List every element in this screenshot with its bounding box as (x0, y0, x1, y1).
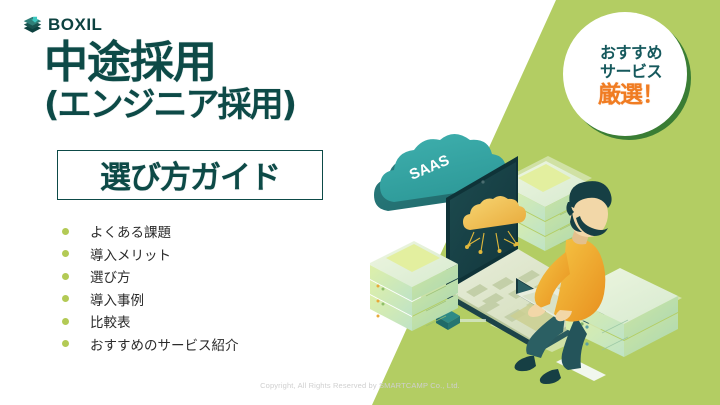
logo-wordmark: BOXIL (48, 16, 102, 33)
stacked-layers-icon (22, 14, 43, 35)
list-item: 導入メリット (62, 243, 239, 266)
badge-text-stack: おすすめ サービス 厳選！ (553, 12, 701, 142)
list-item: 選び方 (62, 265, 239, 288)
title-line-2: (エンジニア採用) (44, 88, 295, 123)
status-badge: おすすめ サービス 厳選！ (553, 12, 701, 142)
bullet-dot-icon (62, 340, 69, 347)
list-item-label: 導入メリット (90, 244, 171, 264)
slide-canvas: BOXIL 中途採用 (エンジニア採用) 選び方ガイド よくある課題 導入メリッ… (0, 0, 720, 405)
bullet-dot-icon (62, 250, 69, 257)
boxil-logo[interactable]: BOXIL (22, 14, 102, 35)
list-item: 導入事例 (62, 288, 239, 311)
badge-line-3: 厳選！ (598, 82, 664, 108)
subtitle-box: 選び方ガイド (57, 150, 323, 200)
copyright-footer: Copyright, All Rights Reserved by SMARTC… (0, 381, 720, 390)
saas-illustration: SAAS (370, 120, 720, 390)
bullet-dot-icon (62, 318, 69, 325)
list-item-label: おすすめのサービス紹介 (90, 334, 239, 354)
bullet-dot-icon (62, 228, 69, 235)
badge-line-1: おすすめ (600, 44, 662, 62)
agenda-list: よくある課題 導入メリット 選び方 導入事例 比較表 おすすめのサービス紹介 (62, 220, 239, 355)
list-item-label: よくある課題 (90, 221, 171, 241)
bullet-dot-icon (62, 295, 69, 302)
list-item-label: 選び方 (90, 266, 131, 286)
badge-line-2: サービス (600, 63, 662, 81)
subtitle-label: 選び方ガイド (100, 152, 280, 197)
list-item: よくある課題 (62, 220, 239, 243)
bullet-dot-icon (62, 273, 69, 280)
list-item: おすすめのサービス紹介 (62, 333, 239, 356)
list-item-label: 比較表 (90, 311, 131, 331)
page-title: 中途採用 (エンジニア採用) (44, 40, 295, 123)
list-item: 比較表 (62, 310, 239, 333)
list-item-label: 導入事例 (90, 289, 144, 309)
title-line-1: 中途採用 (44, 40, 295, 86)
